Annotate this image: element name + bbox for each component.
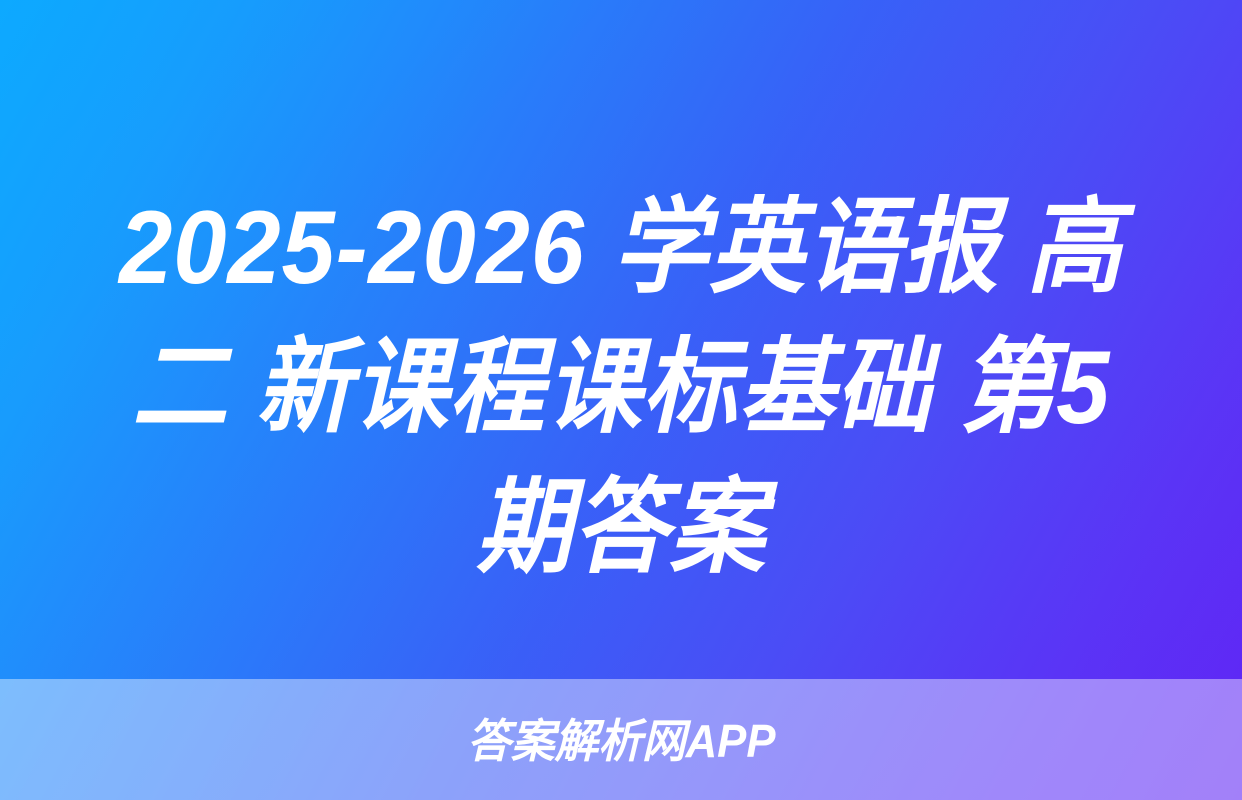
watermark-label: 答案解析网APP bbox=[467, 718, 775, 764]
page-title: 2025-2026 学英语报 高 二 新课程课标基础 第5 期答案 bbox=[0, 178, 1242, 598]
footer-watermark-bar: 答案解析网APP bbox=[0, 679, 1242, 800]
title-card: 2025-2026 学英语报 高 二 新课程课标基础 第5 期答案 答案解析网A… bbox=[0, 0, 1242, 800]
title-line-3: 期答案 bbox=[86, 458, 1155, 598]
title-line-2: 二 新课程课标基础 第5 bbox=[86, 318, 1155, 458]
title-line-1: 2025-2026 学英语报 高 bbox=[86, 178, 1155, 318]
